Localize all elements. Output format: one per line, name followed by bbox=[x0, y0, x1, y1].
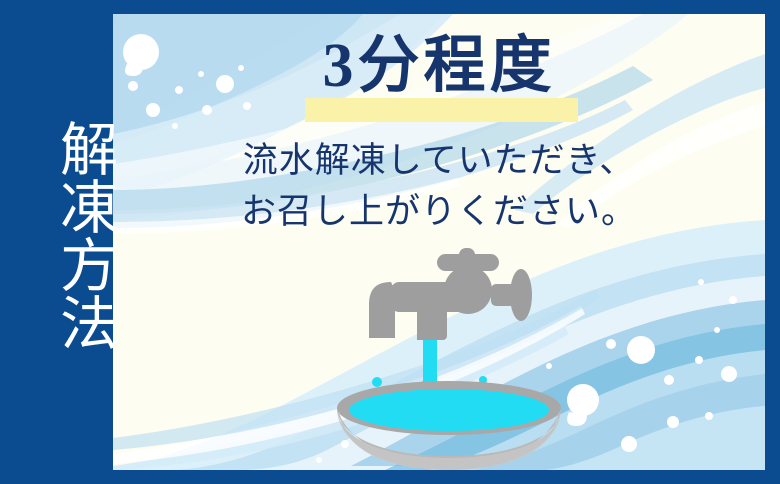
headline-highlight-bar bbox=[305, 98, 578, 122]
instruction-line-2: お召し上がりください。 bbox=[113, 187, 765, 238]
frame-bottom-border bbox=[113, 470, 780, 484]
poster-root: 3分程度 流水解凍していただき、 お召し上がりください。 bbox=[0, 0, 780, 484]
faucet-icon bbox=[369, 248, 532, 340]
sidebar: 解凍方法 bbox=[0, 0, 113, 484]
bowl-icon bbox=[337, 381, 561, 470]
instruction-text: 流水解凍していただき、 お召し上がりください。 bbox=[113, 136, 765, 238]
sidebar-vertical-title: 解凍方法 bbox=[0, 112, 113, 357]
faucet-bowl-illustration bbox=[331, 242, 581, 470]
headline-block: 3分程度 bbox=[113, 32, 765, 101]
content-card: 3分程度 流水解凍していただき、 お召し上がりください。 bbox=[113, 14, 765, 470]
instruction-line-1: 流水解凍していただき、 bbox=[113, 136, 765, 187]
page-title: 3分程度 bbox=[322, 32, 555, 101]
frame-top-border bbox=[113, 0, 780, 14]
frame-right-border bbox=[765, 0, 780, 484]
